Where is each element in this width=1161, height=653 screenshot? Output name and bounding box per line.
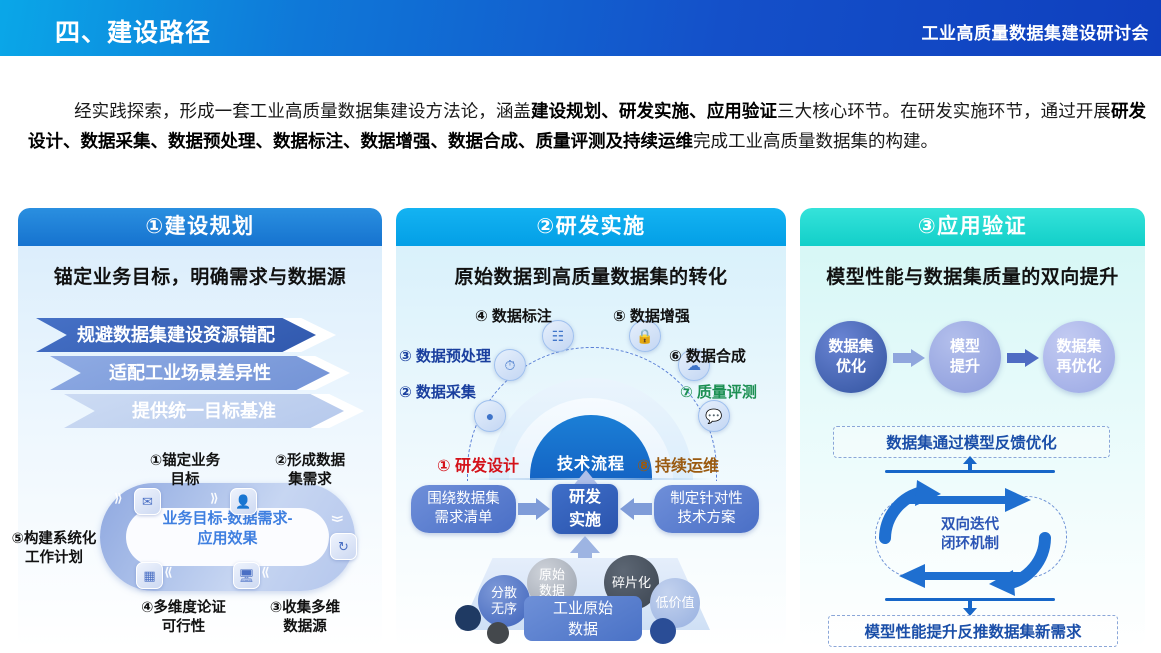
circle-dataset-reoptimize[interactable]: 数据集再优化 — [1043, 321, 1115, 393]
cycle-label-3-line2: 数据源 — [250, 618, 360, 637]
para-bold-1: 建设规划、研发实施、应用验证 — [531, 101, 777, 121]
chat-icon: 💬 — [698, 400, 730, 432]
bidirectional-arrows — [845, 478, 1085, 598]
circle1-l1: 数据集 — [828, 337, 873, 357]
wave-marks-3: ⟫ — [330, 515, 344, 524]
circle1-l2: 优化 — [828, 357, 873, 377]
arc-label-4-num: ④ — [475, 308, 488, 325]
bubble-raw-l1: 原始 — [539, 567, 565, 583]
arc-label-4: ④ 数据标注 — [475, 305, 552, 326]
circle-model-improve[interactable]: 模型提升 — [929, 321, 1001, 393]
bubble-fragmented-l1: 碎片化 — [612, 575, 651, 591]
bottom-label-8-text: 持续运维 — [655, 458, 719, 475]
bubble-dot-1 — [455, 605, 481, 631]
right-pill-line2: 技术方案 — [670, 509, 743, 528]
arrow-right-into-center — [518, 498, 550, 520]
panel2-subtitle: 原始数据到高质量数据集的转化 — [396, 246, 786, 289]
arrow-left-into-center — [620, 498, 652, 520]
para-seg-2: 三大核心环节。在研发实施环节，通过开展 — [777, 101, 1111, 121]
center-box-rnd[interactable]: 研发实施 — [552, 484, 618, 534]
center-box-line1: 研发 — [569, 486, 601, 509]
right-pill[interactable]: 制定针对性技术方案 — [654, 485, 759, 533]
panel1-subtitle: 锚定业务目标，明确需求与数据源 — [18, 246, 382, 289]
arc-label-5-num: ⑤ — [613, 308, 626, 325]
bottom-label-8-num: ⑧ — [637, 458, 651, 475]
panel2-header: ②研发实施 — [396, 208, 786, 246]
left-pill-line1: 围绕数据集 — [427, 490, 500, 509]
raw-box-line2: 数据 — [553, 619, 613, 640]
circle2-l2: 提升 — [950, 357, 980, 377]
panel3-header: ③应用验证 — [800, 208, 1145, 246]
right-pill-line1: 制定针对性 — [670, 490, 743, 509]
cycle-label-5-line2: 工作计划 — [2, 549, 106, 568]
bottom-label-1: ① 研发设计 — [437, 452, 519, 476]
arc-label-3-text: 数据预处理 — [416, 348, 491, 365]
cycle-label-4-line1: ④多维度论证 — [121, 599, 246, 618]
arc-label-2-num: ② — [399, 384, 412, 401]
wave-marks-1: ⟫ — [114, 491, 123, 505]
center-box-line2: 实施 — [569, 509, 601, 532]
cycle-label-3: ③收集多维 数据源 — [250, 599, 360, 637]
page-title: 四、建设路径 — [55, 13, 211, 49]
cycle-label-3-line1: ③收集多维 — [250, 599, 360, 618]
wave-marks-4: ⟪ — [164, 565, 173, 579]
refresh-icon: ↻ — [330, 533, 357, 560]
cycle-label-5-line1: ⑤构建系统化 — [2, 530, 106, 549]
panel3-subtitle: 模型性能与数据集质量的双向提升 — [800, 246, 1145, 289]
bubble-dot-4 — [650, 618, 676, 644]
chevron-3-label: 提供统一目标基准 — [132, 401, 276, 421]
intro-paragraph: 经实践探索，形成一套工业高质量数据集建设方法论，涵盖建设规划、研发实施、应用验证… — [28, 96, 1146, 156]
cycle-label-2-line1: ②形成数据 — [255, 452, 365, 471]
arc-label-2-text: 数据采集 — [416, 384, 476, 401]
chevron-2-label: 适配工业场景差异性 — [109, 363, 271, 383]
mail-icon: ✉ — [134, 488, 161, 515]
clock-icon: ⏱ — [494, 349, 526, 381]
cycle-label-5: ⑤构建系统化 工作计划 — [2, 530, 106, 568]
person-icon: 👤 — [230, 488, 257, 515]
bubble-scattered: 分散无序 — [478, 575, 530, 627]
cycle-label-2: ②形成数据 集需求 — [255, 452, 365, 490]
arrow-up-small — [963, 456, 977, 472]
arc-label-6: ⑥ 数据合成 — [669, 345, 746, 366]
raw-industrial-data-box: 工业原始数据 — [524, 596, 642, 641]
arrow-right-2 — [1007, 349, 1039, 367]
bubble-dot-2 — [487, 622, 509, 644]
circle2-l1: 模型 — [950, 337, 980, 357]
arc-label-6-text: 数据合成 — [686, 348, 746, 365]
cycle-label-4: ④多维度论证 可行性 — [121, 599, 246, 637]
cycle-label-2-line2: 集需求 — [255, 471, 365, 490]
location-icon: ● — [474, 400, 506, 432]
arc-label-7: ⑦ 质量评测 — [680, 381, 757, 402]
event-title: 工业高质量数据集建设研讨会 — [922, 19, 1150, 44]
circle3-l1: 数据集 — [1056, 337, 1101, 357]
arc-label-7-num: ⑦ — [680, 384, 693, 401]
cycle-label-1: ①锚定业务 目标 — [130, 452, 240, 490]
circle3-l2: 再优化 — [1056, 357, 1101, 377]
arc-label-5-text: 数据增强 — [630, 308, 690, 325]
chevron-1-label: 规避数据集建设资源错配 — [77, 325, 275, 345]
raw-box-line1: 工业原始 — [553, 598, 613, 619]
cycle-label-1-line2: 目标 — [130, 471, 240, 490]
wave-marks-5: ⟪ — [261, 565, 270, 579]
dashed-box-bottom: 模型性能提升反推数据集新需求 — [828, 615, 1118, 647]
cycle-center-text: 业务目标-数据需求- 应用效果 — [110, 509, 345, 549]
para-seg-1: 经实践探索，形成一套工业高质量数据集建设方法论，涵盖 — [74, 101, 531, 121]
arc-label-3: ③ 数据预处理 — [399, 345, 491, 366]
bubble-lowvalue-l1: 低价值 — [655, 595, 694, 611]
circle-dataset-optimize[interactable]: 数据集优化 — [815, 321, 887, 393]
para-seg-3: 完成工业高质量数据集的构建。 — [693, 131, 938, 151]
cycle-label-1-line1: ①锚定业务 — [130, 452, 240, 471]
wave-marks-2: ⟫ — [210, 491, 219, 505]
arrow-right-1 — [893, 349, 925, 367]
cycle-center-line2: 应用效果 — [110, 529, 345, 549]
database-icon: 🖥 — [233, 562, 260, 589]
arc-label-7-text: 质量评测 — [697, 384, 757, 401]
chevron-3[interactable]: 提供统一目标基准 — [64, 394, 344, 428]
arc-label-4-text: 数据标注 — [492, 308, 552, 325]
bottom-label-1-text: 研发设计 — [455, 458, 519, 475]
arc-label-5: ⑤ 数据增强 — [613, 305, 690, 326]
dashed-box-top: 数据集通过模型反馈优化 — [833, 426, 1110, 458]
panel1-header: ①建设规划 — [18, 208, 382, 246]
bubble-scattered-l2: 无序 — [491, 601, 517, 617]
bottom-label-1-num: ① — [437, 458, 451, 475]
server-icon: ▦ — [136, 562, 163, 589]
bottom-label-8: ⑧ 持续运维 — [637, 452, 719, 476]
chevron-2[interactable]: 适配工业场景差异性 — [50, 356, 330, 390]
cycle-label-4-line2: 可行性 — [121, 618, 246, 637]
arrow-down-small — [963, 600, 977, 616]
left-pill[interactable]: 围绕数据集需求清单 — [411, 485, 516, 533]
chevron-1[interactable]: 规避数据集建设资源错配 — [36, 318, 316, 352]
left-pill-line2: 需求清单 — [427, 509, 500, 528]
arc-label-2: ② 数据采集 — [399, 381, 476, 402]
title-bar: 四、建设路径 工业高质量数据集建设研讨会 — [0, 0, 1161, 56]
arc-label-3-num: ③ — [399, 348, 412, 365]
bubble-scattered-l1: 分散 — [491, 585, 517, 601]
arc-label-6-num: ⑥ — [669, 348, 682, 365]
